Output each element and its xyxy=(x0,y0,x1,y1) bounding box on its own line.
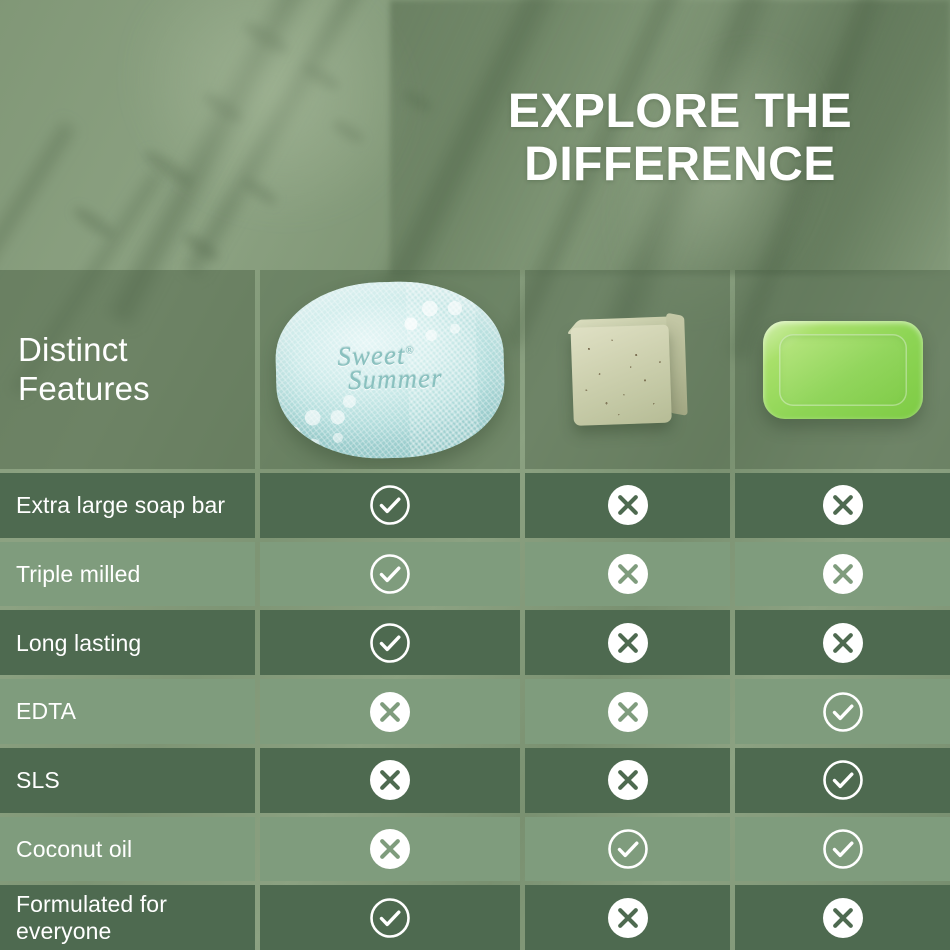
feature-value-cell xyxy=(525,817,730,882)
cross-circle-icon xyxy=(606,621,650,665)
soap-bar-green xyxy=(763,321,923,419)
soap-brand-emboss: Sweet® Summer xyxy=(337,338,443,396)
feature-value-cell xyxy=(735,885,950,950)
table-row: Triple milled xyxy=(0,542,950,607)
product-image-sweet-summer-bar: Sweet® Summer xyxy=(276,282,504,458)
soap-bar-mint: Sweet® Summer xyxy=(274,279,507,461)
feature-value-cell xyxy=(260,542,520,607)
table-row: Extra large soap bar xyxy=(0,473,950,538)
check-circle-icon xyxy=(821,690,865,734)
table-row: SLS xyxy=(0,748,950,813)
feature-label-cell: Long lasting xyxy=(0,610,255,675)
product-header-handmade-square-bar xyxy=(525,270,730,469)
feature-label-cell: Coconut oil xyxy=(0,817,255,882)
cross-circle-icon xyxy=(368,827,412,871)
feature-label-cell: Extra large soap bar xyxy=(0,473,255,538)
feature-label: Extra large soap bar xyxy=(16,492,225,518)
feature-value-cell xyxy=(260,679,520,744)
product-image-green-bar xyxy=(763,321,923,419)
check-circle-icon xyxy=(606,827,650,871)
cross-circle-icon xyxy=(821,621,865,665)
feature-value-cell xyxy=(735,610,950,675)
table-row: EDTA xyxy=(0,679,950,744)
headline-line-1: EXPLORE THE xyxy=(508,85,852,138)
cross-circle-icon xyxy=(606,690,650,734)
feature-label: Triple milled xyxy=(16,561,140,587)
brand-line-2: Summer xyxy=(348,362,443,395)
cross-circle-icon xyxy=(368,690,412,734)
feature-value-cell xyxy=(525,610,730,675)
soap-bar-handmade xyxy=(570,314,686,426)
feature-value-cell xyxy=(735,473,950,538)
feature-value-cell xyxy=(525,748,730,813)
cross-circle-icon xyxy=(606,896,650,940)
check-circle-icon xyxy=(368,896,412,940)
headline-line-2: DIFFERENCE xyxy=(430,139,930,192)
feature-value-cell xyxy=(525,885,730,950)
table-row: Coconut oil xyxy=(0,817,950,882)
table-row: Formulated for everyone xyxy=(0,885,950,950)
product-header-green-bar xyxy=(735,270,950,469)
check-circle-icon xyxy=(821,758,865,802)
page-title: EXPLORE THE DIFFERENCE xyxy=(430,86,930,192)
cross-circle-icon xyxy=(606,758,650,802)
product-header-sweet-summer-bar: Sweet® Summer xyxy=(260,270,520,469)
cross-circle-icon xyxy=(821,552,865,596)
feature-label: Coconut oil xyxy=(16,836,132,862)
feature-label: EDTA xyxy=(16,698,76,724)
feature-value-cell xyxy=(260,817,520,882)
comparison-table: Distinct Features Sweet® Summer xyxy=(0,270,950,950)
cross-circle-icon xyxy=(821,896,865,940)
feature-label: SLS xyxy=(16,767,60,793)
feature-value-cell xyxy=(525,542,730,607)
cross-circle-icon xyxy=(821,483,865,527)
feature-value-cell xyxy=(735,542,950,607)
feature-value-cell xyxy=(735,748,950,813)
cross-circle-icon xyxy=(606,483,650,527)
feature-value-cell xyxy=(260,885,520,950)
feature-value-cell xyxy=(735,679,950,744)
feature-value-cell xyxy=(260,748,520,813)
feature-column-header: Distinct Features xyxy=(0,270,255,469)
soap-front-face xyxy=(570,324,671,425)
feature-column-title: Distinct Features xyxy=(0,331,255,408)
feature-label: Formulated for everyone xyxy=(16,891,255,943)
feature-label-cell: Triple milled xyxy=(0,542,255,607)
feature-label: Long lasting xyxy=(16,630,141,656)
check-circle-icon xyxy=(821,827,865,871)
check-circle-icon xyxy=(368,552,412,596)
feature-value-cell xyxy=(735,817,950,882)
table-header-row: Distinct Features Sweet® Summer xyxy=(0,270,950,469)
feature-label-cell: EDTA xyxy=(0,679,255,744)
feature-value-cell xyxy=(260,473,520,538)
check-circle-icon xyxy=(368,621,412,665)
check-circle-icon xyxy=(368,483,412,527)
feature-value-cell xyxy=(525,679,730,744)
cross-circle-icon xyxy=(368,758,412,802)
feature-label-cell: Formulated for everyone xyxy=(0,885,255,950)
table-row: Long lasting xyxy=(0,610,950,675)
feature-value-cell xyxy=(260,610,520,675)
product-image-handmade-square-bar xyxy=(572,316,684,424)
cross-circle-icon xyxy=(606,552,650,596)
feature-label-cell: SLS xyxy=(0,748,255,813)
feature-value-cell xyxy=(525,473,730,538)
